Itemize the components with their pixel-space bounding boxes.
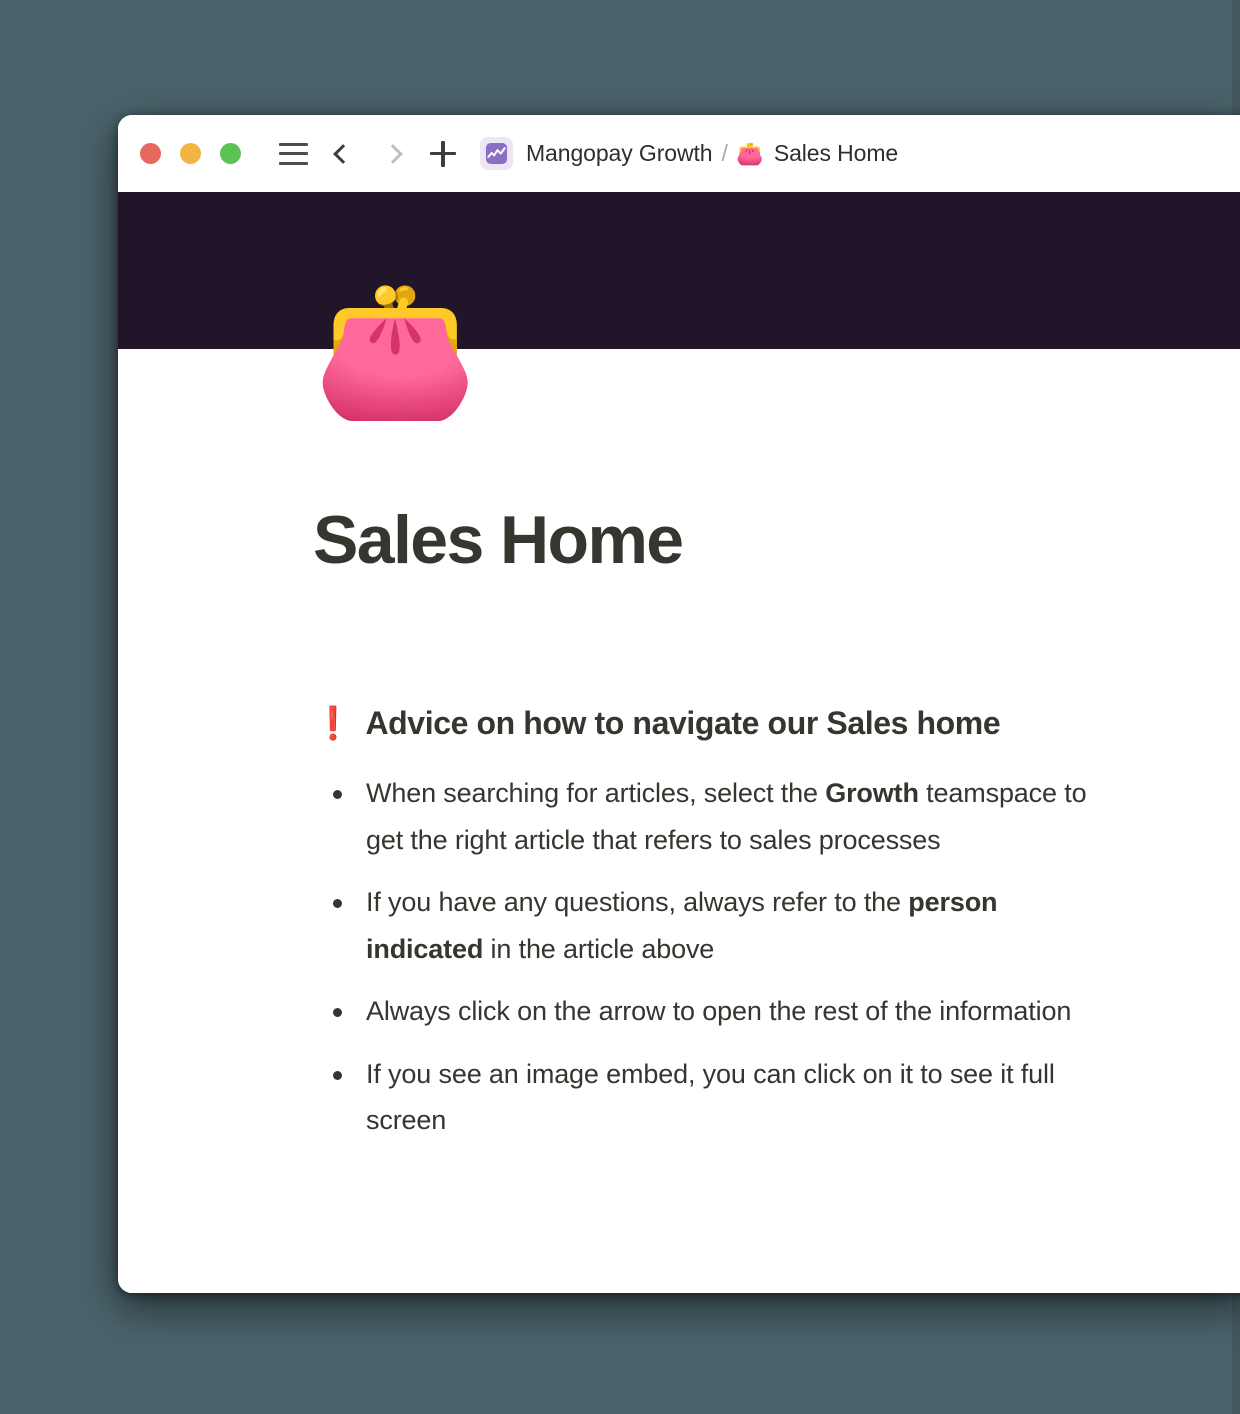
- window-titlebar: Mangopay Growth / 👛 Sales Home: [118, 115, 1240, 192]
- list-item[interactable]: When searching for articles, select the …: [313, 770, 1103, 863]
- exclamation-icon: ❗: [313, 704, 352, 742]
- page-document: 👛 Sales Home ❗ Advice on how to navigate…: [118, 192, 1240, 1293]
- chevron-left-icon: [333, 144, 353, 164]
- chart-line-icon: [480, 137, 513, 170]
- sidebar-toggle-button[interactable]: [268, 130, 318, 178]
- list-item-text: When searching for articles, select the: [366, 778, 825, 808]
- navigation-icon-group: [268, 130, 468, 178]
- close-window-button[interactable]: [140, 143, 161, 164]
- advice-bullet-list: When searching for articles, select the …: [313, 770, 1103, 1143]
- page-cover-image[interactable]: [118, 192, 1240, 349]
- list-item-text: Always click on the arrow to open the re…: [366, 996, 1071, 1026]
- new-page-button[interactable]: [418, 130, 468, 178]
- page-content: Sales Home ❗ Advice on how to navigate o…: [118, 505, 1240, 1143]
- list-item[interactable]: Always click on the arrow to open the re…: [313, 988, 1103, 1034]
- list-item-text: in the article above: [483, 934, 714, 964]
- forward-button[interactable]: [368, 130, 418, 178]
- page-title[interactable]: Sales Home: [313, 505, 1240, 576]
- breadcrumb-page-link[interactable]: Sales Home: [774, 140, 898, 167]
- list-item-text: If you have any questions, always refer …: [366, 887, 908, 917]
- notion-app-window: Mangopay Growth / 👛 Sales Home 👛 Sales H…: [118, 115, 1240, 1293]
- back-button[interactable]: [318, 130, 368, 178]
- list-item[interactable]: If you have any questions, always refer …: [313, 879, 1103, 972]
- breadcrumb: Mangopay Growth / 👛 Sales Home: [480, 137, 898, 170]
- hamburger-menu-icon: [279, 143, 308, 165]
- chevron-right-icon: [383, 144, 403, 164]
- plus-icon: [430, 141, 456, 167]
- maximize-window-button[interactable]: [220, 143, 241, 164]
- traffic-light-group: [140, 143, 241, 164]
- list-item-emphasis: Growth: [825, 778, 919, 808]
- breadcrumb-workspace-link[interactable]: Mangopay Growth: [526, 140, 712, 167]
- minimize-window-button[interactable]: [180, 143, 201, 164]
- list-item[interactable]: If you see an image embed, you can click…: [313, 1051, 1103, 1144]
- breadcrumb-separator: /: [721, 140, 727, 167]
- list-item-text: If you see an image embed, you can click…: [366, 1059, 1055, 1135]
- advice-heading-text: Advice on how to navigate our Sales home: [365, 705, 1000, 742]
- purse-icon: 👛: [737, 141, 763, 167]
- advice-heading: ❗ Advice on how to navigate our Sales ho…: [313, 704, 1240, 742]
- page-purse-icon[interactable]: 👛: [313, 274, 465, 426]
